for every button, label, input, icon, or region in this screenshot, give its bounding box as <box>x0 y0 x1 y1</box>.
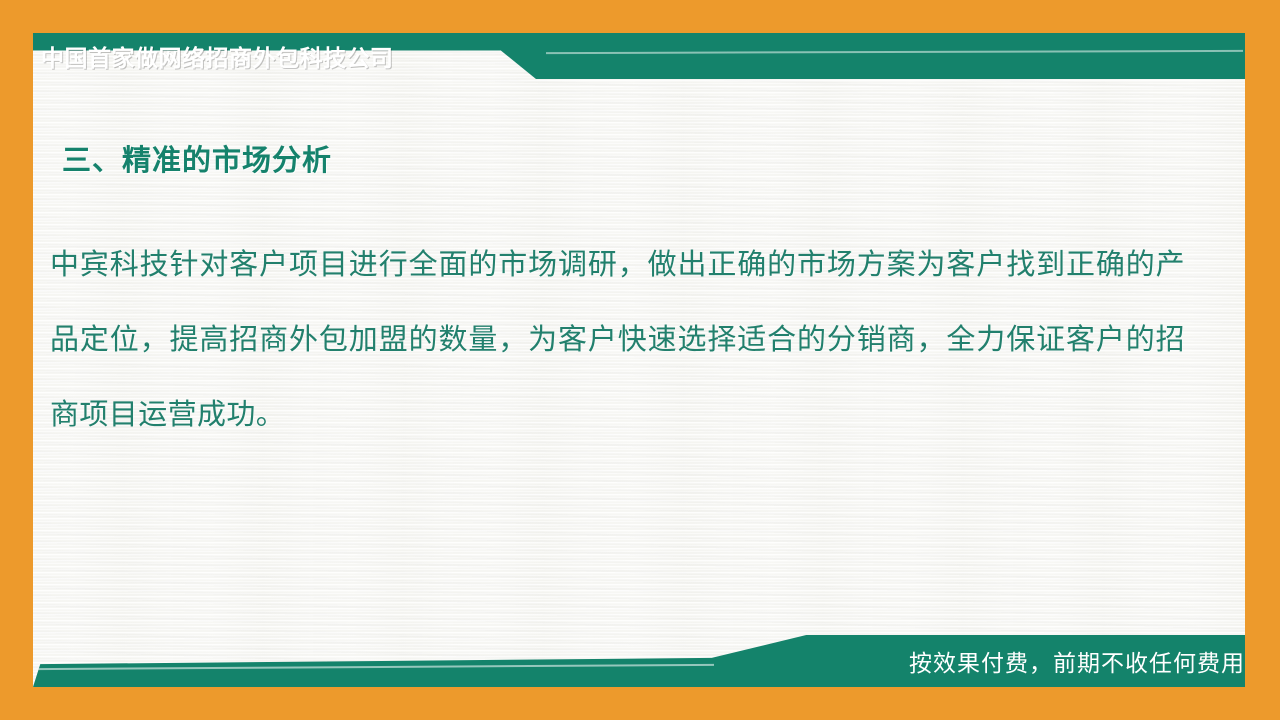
header-ribbon-rule <box>546 50 1243 54</box>
header-title: 中国首家做网络招商外包科技公司 <box>41 33 394 79</box>
section-heading: 三、精准的市场分析 <box>62 137 332 179</box>
footer-ribbon-rule <box>35 664 714 670</box>
footer-slogan: 按效果付费，前期不收任何费用 <box>909 635 1245 687</box>
body-paragraph: 中宾科技针对客户项目进行全面的市场调研，做出正确的市场方案为客户找到正确的产品定… <box>50 228 1185 453</box>
slide-root: 中国首家做网络招商外包科技公司 三、精准的市场分析 中宾科技针对客户项目进行全面… <box>0 0 1280 720</box>
